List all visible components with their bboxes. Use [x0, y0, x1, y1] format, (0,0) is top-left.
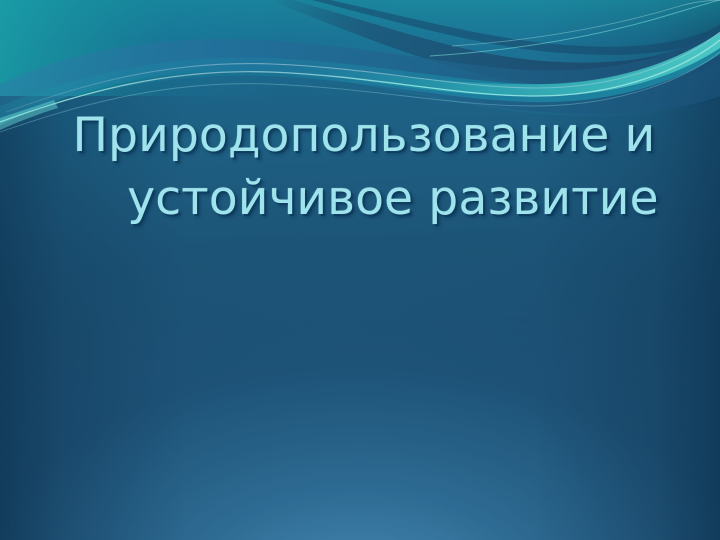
- background-top-teal-band: [0, 0, 720, 96]
- title-line-2: устойчивое развитие: [118, 175, 668, 222]
- wave-hairline-pale: [6, 32, 720, 112]
- wave-hairline-upper-right-a: [430, 0, 720, 56]
- decorative-wave-ribbons: [0, 0, 720, 540]
- title-line-1: Природопользование и: [60, 112, 668, 159]
- wave-ribbon-dark-thin: [312, 0, 720, 55]
- background-vignette: [0, 0, 720, 540]
- presentation-slide: Природопользование и устойчивое развитие: [0, 0, 720, 540]
- wave-ribbon-teal-highlight: [300, 32, 720, 96]
- slide-title: Природопользование и устойчивое развитие: [60, 112, 668, 222]
- wave-left-bright-wedge: [0, 100, 58, 130]
- wave-ribbon-dark: [268, 0, 720, 89]
- wave-hairline-upper-right-b: [452, 0, 720, 46]
